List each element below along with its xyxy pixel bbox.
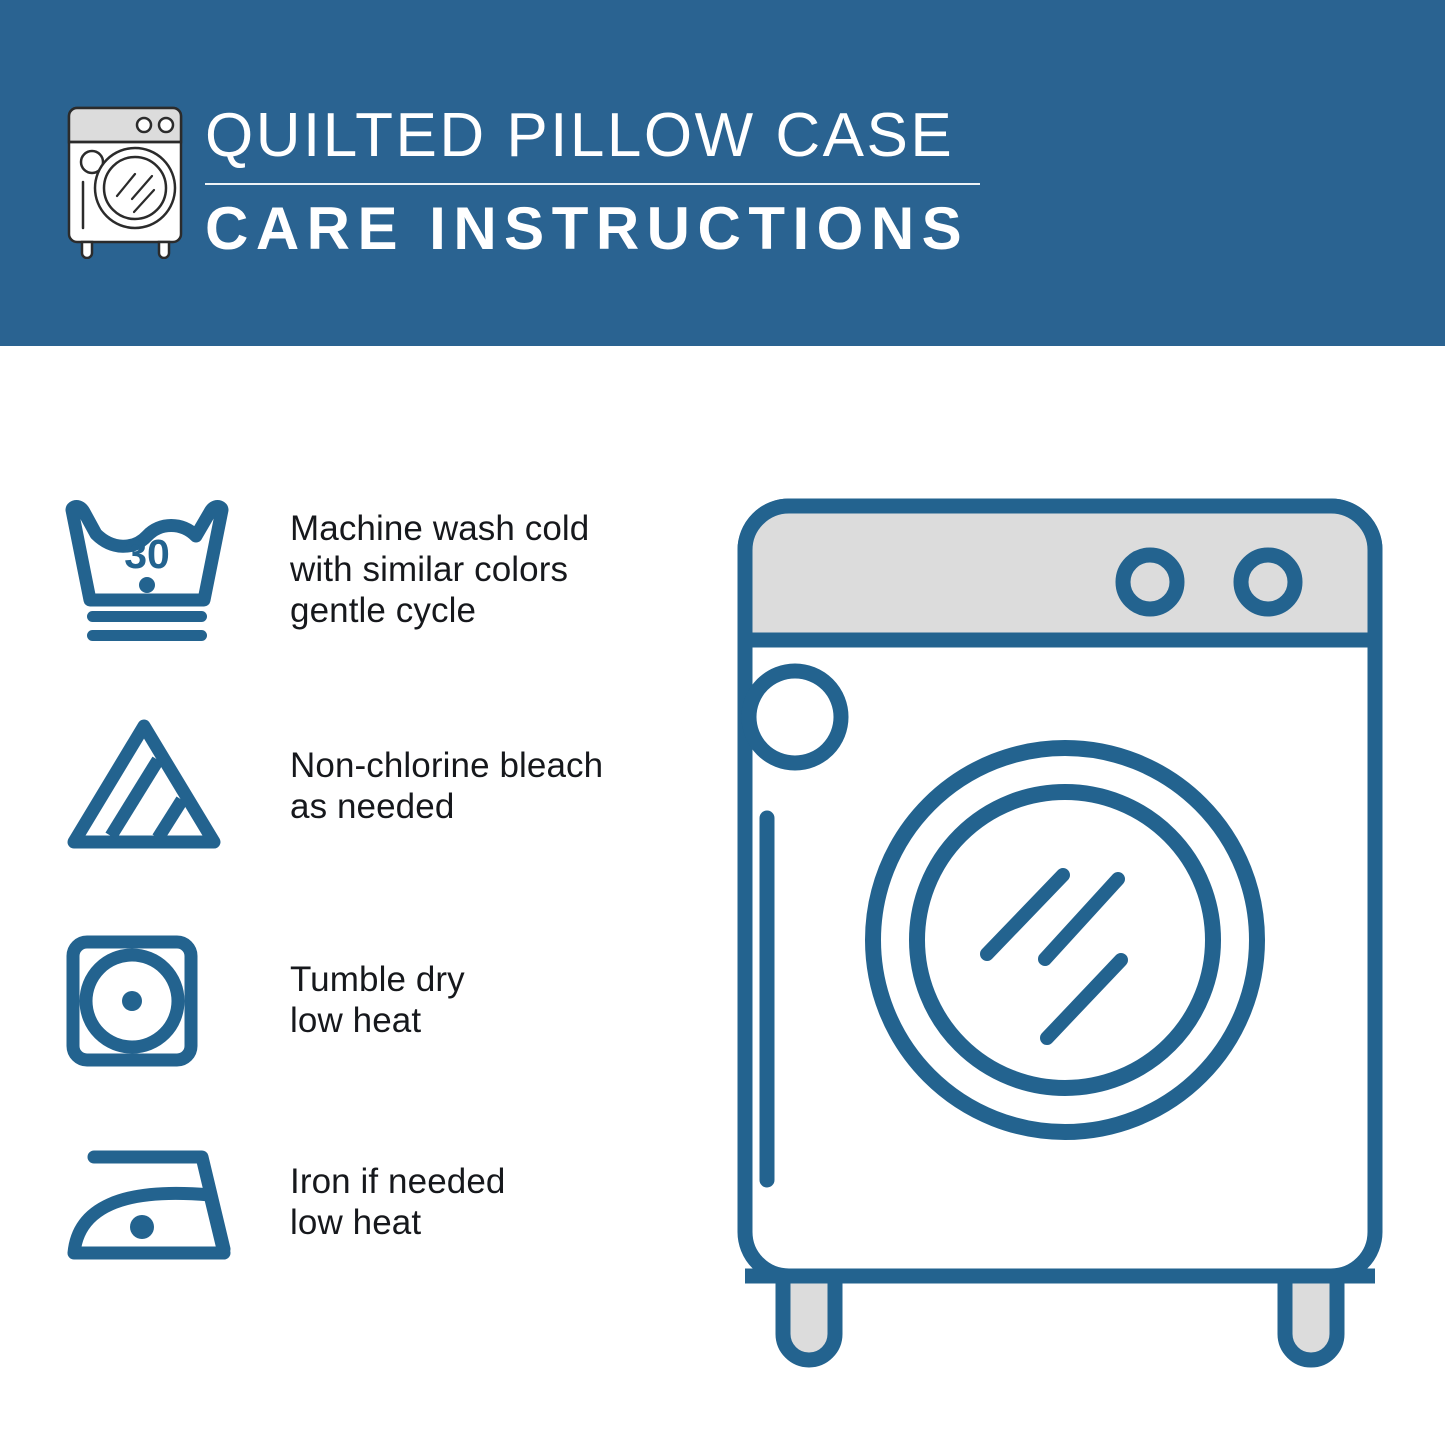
front-load-washing-machine-illustration: [715, 470, 1405, 1370]
care-item-label-iron: Iron if needed low heat: [290, 1161, 505, 1243]
wash-temperature-label: 30: [124, 531, 170, 577]
title-divider: [205, 183, 980, 185]
care-text-line: Iron if needed: [290, 1161, 505, 1202]
care-text-line: low heat: [290, 1202, 505, 1243]
leg-left: [783, 1276, 835, 1360]
tumble-dry-icon: [62, 931, 202, 1076]
header-text-block: QUILTED PILLOW CASE CARE INSTRUCTIONS: [205, 100, 995, 260]
care-item-label-machine-wash: Machine wash cold with similar colors ge…: [290, 508, 589, 631]
control-knob-right: [1241, 555, 1295, 609]
wash-tub-icon: 30: [62, 496, 232, 651]
page-title: QUILTED PILLOW CASE: [205, 100, 995, 172]
leg-right: [1285, 1276, 1337, 1360]
iron-icon: [62, 1141, 237, 1271]
care-text-line: Machine wash cold: [290, 508, 589, 549]
care-item-label-bleach: Non-chlorine bleach as needed: [290, 745, 603, 827]
care-instructions-infographic: QUILTED PILLOW CASE CARE INSTRUCTIONS 30: [0, 0, 1445, 1445]
care-text-line: as needed: [290, 786, 603, 827]
detergent-dispenser-circle: [749, 671, 841, 763]
care-text-line: Tumble dry: [290, 959, 465, 1000]
washing-machine-icon: [62, 104, 190, 259]
care-instruction-list: 30 Machine wash cold with similar colors…: [0, 346, 700, 1445]
care-text-line: with similar colors: [290, 549, 589, 590]
care-text-line: low heat: [290, 1000, 465, 1041]
bleach-triangle-icon: [62, 714, 227, 859]
care-text-line: Non-chlorine bleach: [290, 745, 603, 786]
care-text-line: gentle cycle: [290, 590, 589, 631]
page-subtitle: CARE INSTRUCTIONS: [205, 194, 995, 264]
care-item-label-tumble-dry: Tumble dry low heat: [290, 959, 465, 1041]
header-banner: QUILTED PILLOW CASE CARE INSTRUCTIONS: [0, 0, 1445, 346]
control-knob-left: [1123, 555, 1177, 609]
